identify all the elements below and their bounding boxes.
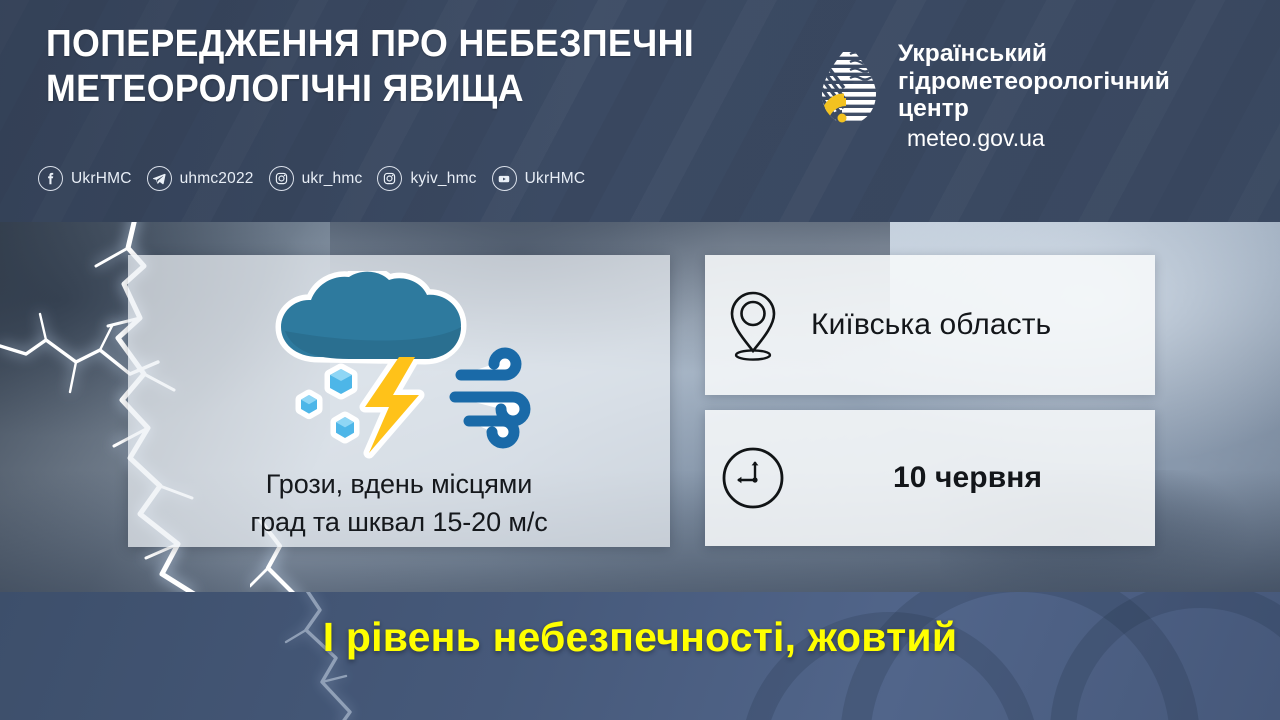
logo-line2: гідрометеорологічний xyxy=(898,68,1170,96)
region-label: Київська область xyxy=(811,308,1051,342)
social-link-telegram[interactable]: uhmc2022 xyxy=(147,166,254,191)
clock-icon xyxy=(705,445,801,511)
weather-description-line2: град та шквал 15-20 м/с xyxy=(128,503,670,541)
organization-logo[interactable]: Український гідрометеорологічний центр m… xyxy=(818,40,1170,153)
instagram-icon xyxy=(377,166,402,191)
header-band: ПОПЕРЕДЖЕННЯ ПРО НЕБЕЗПЕЧНІ МЕТЕОРОЛОГІЧ… xyxy=(0,0,1280,222)
facebook-icon xyxy=(38,166,63,191)
page-title-line1: ПОПЕРЕДЖЕННЯ ПРО НЕБЕЗПЕЧНІ xyxy=(46,23,694,65)
logo-text: Український гідрометеорологічний центр m… xyxy=(898,40,1170,153)
social-link-facebook[interactable]: UkrHMC xyxy=(38,166,132,191)
social-handle: UkrHMC xyxy=(525,170,586,188)
date-label: 10 червня xyxy=(893,461,1042,495)
weather-description: Грози, вдень місцями град та шквал 15-20… xyxy=(128,465,670,541)
social-handle: UkrHMC xyxy=(71,170,132,188)
social-link-instagram-ukr[interactable]: ukr_hmc xyxy=(269,166,363,191)
page-title-line2: МЕТЕОРОЛОГІЧНІ ЯВИЩА xyxy=(46,67,760,112)
logo-line1: Український xyxy=(898,40,1170,68)
social-handle: ukr_hmc xyxy=(302,170,363,188)
danger-level-text: І рівень небезпечності, жовтий xyxy=(0,614,1280,661)
weather-description-line1: Грози, вдень місцями xyxy=(128,465,670,503)
page-title: ПОПЕРЕДЖЕННЯ ПРО НЕБЕЗПЕЧНІ МЕТЕОРОЛОГІЧ… xyxy=(46,22,760,112)
social-link-youtube[interactable]: UkrHMC xyxy=(492,166,586,191)
social-handle: uhmc2022 xyxy=(180,170,254,188)
weather-phenomenon-card: Грози, вдень місцями град та шквал 15-20… xyxy=(128,255,670,547)
logo-line3: центр xyxy=(898,95,1170,123)
social-links-row: UkrHMC uhmc2022 ukr_hmc xyxy=(38,166,600,191)
telegram-icon xyxy=(147,166,172,191)
youtube-icon xyxy=(492,166,517,191)
region-card: Київська область xyxy=(705,255,1155,395)
date-card: 10 червня xyxy=(705,410,1155,546)
social-link-instagram-kyiv[interactable]: kyiv_hmc xyxy=(377,166,476,191)
location-pin-icon xyxy=(705,289,801,361)
footer-band: І рівень небезпечності, жовтий xyxy=(0,592,1280,720)
social-handle: kyiv_hmc xyxy=(410,170,476,188)
instagram-icon xyxy=(269,166,294,191)
thunderstorm-hail-wind-icon xyxy=(223,271,563,461)
logo-website-url[interactable]: meteo.gov.ua xyxy=(907,123,1170,153)
weather-warning-infographic: ПОПЕРЕДЖЕННЯ ПРО НЕБЕЗПЕЧНІ МЕТЕОРОЛОГІЧ… xyxy=(0,0,1280,720)
water-droplet-logo-icon xyxy=(818,44,880,126)
